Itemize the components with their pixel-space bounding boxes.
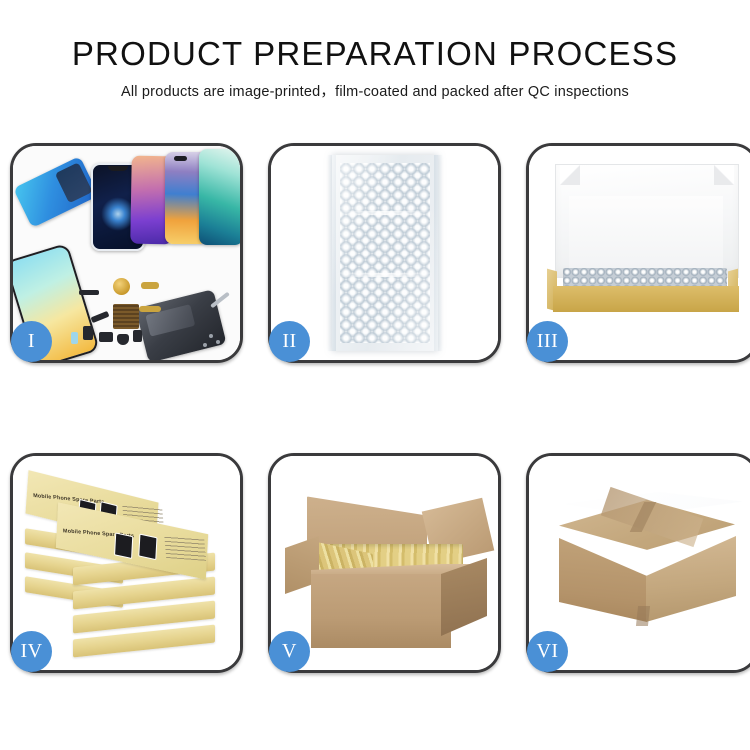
pouch-sheen	[332, 155, 438, 351]
screw-c	[203, 343, 207, 347]
screw-a	[209, 334, 213, 338]
box-tray-front	[553, 286, 739, 312]
vibrator-motor	[133, 330, 142, 342]
bubble-wrap-pouch	[332, 155, 438, 351]
step-badge-4: IV	[11, 631, 52, 672]
flex-cable-c	[91, 311, 110, 323]
process-step-panel-6: VI	[526, 453, 750, 673]
logic-board	[113, 304, 139, 329]
process-step-panel-5: V	[268, 453, 501, 673]
battery-part	[71, 332, 78, 344]
product-preparation-infographic: PRODUCT PREPARATION PROCESS All products…	[0, 0, 750, 750]
punch-hole-camera	[174, 156, 187, 161]
box-phone-image-front-b	[138, 534, 157, 561]
teal-phone	[199, 149, 240, 245]
process-step-panel-4: Mobile Phone Spare Parts Mobile Phone Sp…	[10, 453, 243, 673]
back-housing	[135, 289, 226, 360]
speaker-part	[113, 278, 130, 295]
screw-b	[216, 340, 220, 344]
step-badge-6: VI	[527, 631, 568, 672]
antenna-strip	[79, 290, 99, 295]
box-spec-lines-front	[164, 536, 206, 561]
box-inner-panel	[569, 196, 723, 268]
step-badge-3: III	[527, 321, 568, 362]
step-badge-2: II	[269, 321, 310, 362]
process-step-panel-3: III	[526, 143, 750, 363]
camera-module	[117, 334, 129, 345]
connector-b	[99, 332, 113, 342]
process-step-panel-2: II	[268, 143, 501, 363]
box-phone-image-front-a	[114, 532, 133, 559]
step-badge-1: I	[11, 321, 52, 362]
flex-cable-a	[141, 282, 159, 289]
connector-a	[83, 326, 93, 340]
step-badge-5: V	[269, 631, 310, 672]
notch	[108, 166, 128, 171]
flex-cable-b	[139, 306, 161, 312]
page-subtitle: All products are image-printed，film-coat…	[0, 81, 750, 103]
page-title: PRODUCT PREPARATION PROCESS	[0, 34, 750, 74]
header: PRODUCT PREPARATION PROCESS All products…	[0, 34, 750, 103]
process-step-panel-1: I	[10, 143, 243, 363]
carton-tape-lower	[636, 606, 650, 626]
carton-front-face	[311, 574, 451, 648]
process-step-grid: I II	[10, 143, 740, 676]
blue-screen-film	[13, 156, 99, 228]
